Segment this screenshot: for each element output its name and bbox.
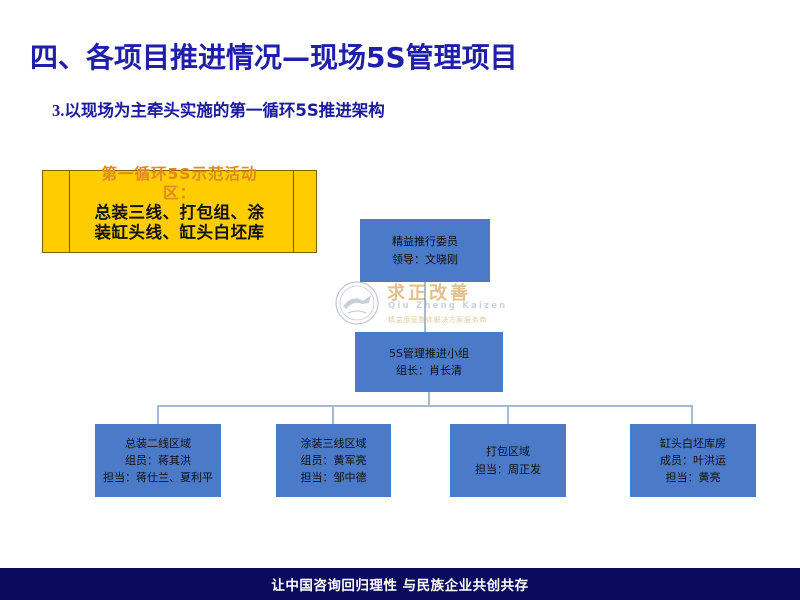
connector-drop-area-2 [332, 405, 334, 425]
org-node-area: 缸头白坯库房 成员：叶洪运 担当：黄亮 [630, 424, 756, 497]
footer-bar: 让中国咨询回归理性 与民族企业共创共存 [0, 568, 800, 600]
org-node-area: 打包区域 担当：周正发 [450, 424, 566, 497]
area-line-1: 缸头白坯库房 [660, 435, 726, 452]
subtitle-text: 以现场为主牵头实施的第一循环5S推进架构 [64, 101, 384, 120]
company-logo-icon [333, 279, 381, 327]
connector-team-to-bus [428, 392, 430, 406]
team-line-2: 组长：肖长清 [396, 362, 462, 379]
page-title: 四、各项目推进情况—现场5S管理项目 [30, 36, 518, 76]
footer-text: 让中国咨询回归理性 与民族企业共创共存 [271, 574, 528, 594]
area-line-3: 担当：黄亮 [666, 469, 721, 486]
scope-box [42, 170, 317, 253]
subtitle-number: 3. [52, 101, 64, 120]
area-line-3: 担当：邹中德 [301, 469, 367, 486]
committee-line-1: 精益推行委员 [392, 233, 458, 250]
org-node-area: 总装二线区域 组员：蒋其洪 担当：蒋仕兰、夏利平 [95, 424, 221, 497]
area-line-3: 担当：蒋仕兰、夏利平 [103, 469, 213, 486]
area-line-1: 总装二线区域 [125, 435, 191, 452]
slide-subtitle: 3.以现场为主牵头实施的第一循环5S推进架构 [52, 97, 385, 121]
org-node-area: 涂装三线区域 组员：黄军亮 担当：邹中德 [276, 424, 391, 497]
slide-canvas: 四、各项目推进情况—现场5S管理项目 3.以现场为主牵头实施的第一循环5S推进架… [0, 0, 800, 600]
area-line-2: 组员：蒋其洪 [125, 452, 191, 469]
connector-drop-area-1 [157, 405, 159, 425]
area-line-2: 组员：黄军亮 [301, 452, 367, 469]
org-node-team: 5S管理推进小组 组长：肖长清 [355, 332, 503, 392]
scope-box-divider-left [69, 171, 70, 252]
committee-line-2: 领导：文晓刚 [392, 251, 458, 268]
connector-drop-area-4 [691, 405, 693, 425]
connector-committee-to-team [424, 282, 426, 332]
area-line-1: 涂装三线区域 [301, 435, 367, 452]
connector-horizontal-bus [157, 405, 693, 407]
org-node-committee: 精益推行委员 领导：文晓刚 [360, 219, 490, 282]
watermark-tagline: 精益运营整体解决方案服务商 [388, 315, 487, 325]
scope-box-divider-right [293, 171, 294, 252]
team-line-1: 5S管理推进小组 [389, 345, 469, 362]
connector-drop-area-3 [507, 405, 509, 425]
area-line-1: 打包区域 [486, 443, 530, 460]
watermark-pinyin: Qiu Zheng Kaizen [388, 301, 507, 311]
area-line-2: 成员：叶洪运 [660, 452, 726, 469]
watermark: 求正改善 Qiu Zheng Kaizen 精益运营整体解决方案服务商 [333, 277, 523, 331]
watermark-chinese: 求正改善 [387, 279, 471, 305]
area-line-2: 担当：周正发 [475, 461, 541, 478]
